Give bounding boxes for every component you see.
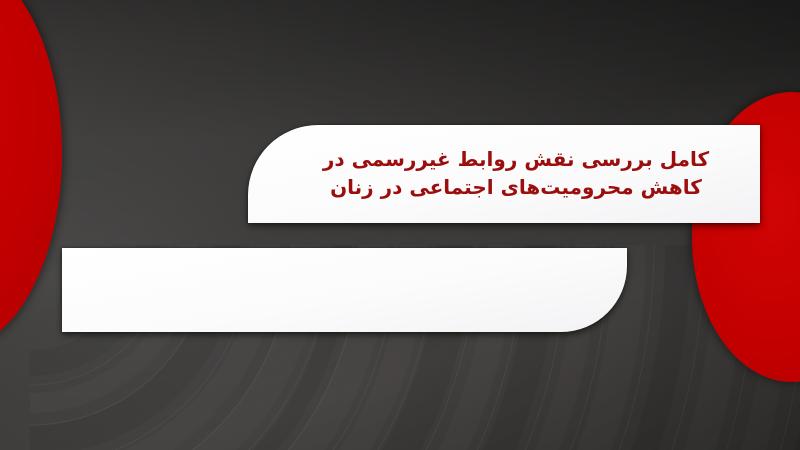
background-arc-pattern [0, 0, 800, 450]
slide-subtitle[interactable] [62, 248, 627, 332]
slide-title: کامل بررسی نقش روابط غیررسمی در کاهش محر… [248, 146, 760, 201]
slide-canvas: کامل بررسی نقش روابط غیررسمی در کاهش محر… [0, 0, 800, 450]
subtitle-panel[interactable] [62, 248, 627, 332]
title-panel: کامل بررسی نقش روابط غیررسمی در کاهش محر… [248, 125, 760, 223]
